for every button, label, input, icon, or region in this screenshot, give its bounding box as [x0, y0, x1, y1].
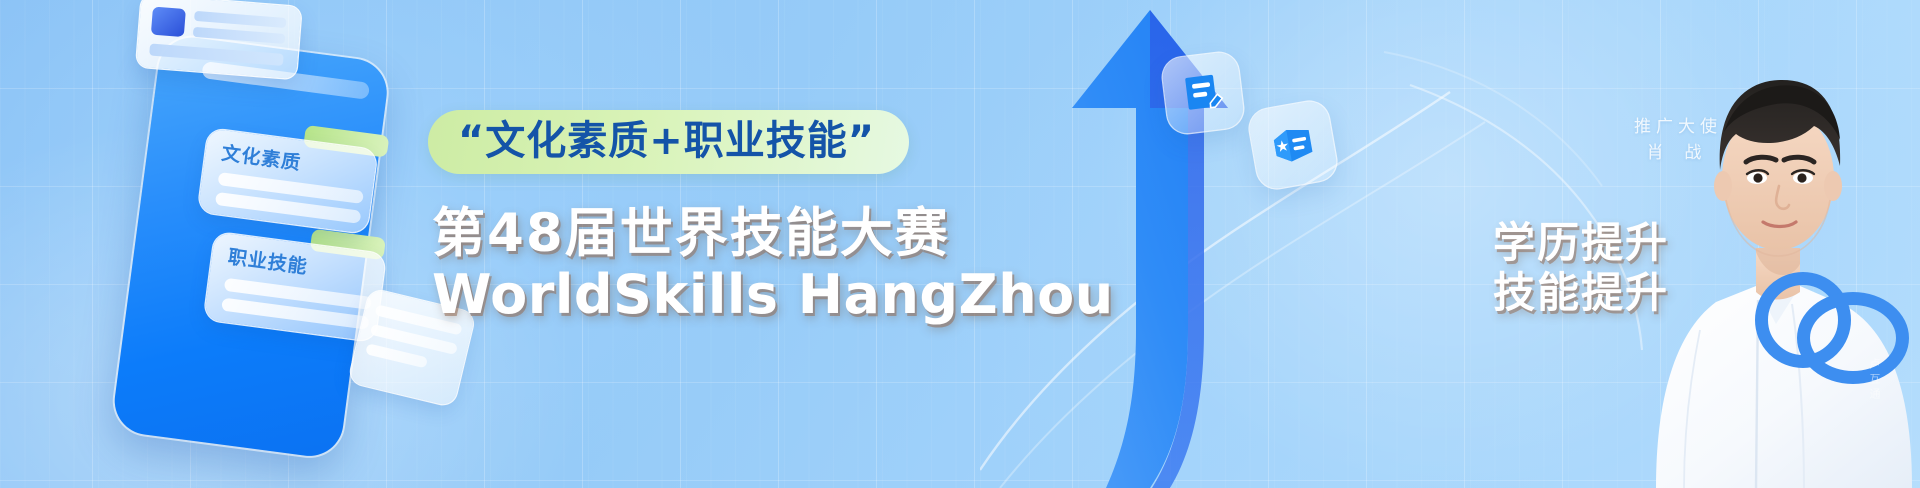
float-card-line	[193, 27, 286, 44]
badge-book-icon	[1247, 99, 1340, 192]
circle-ring-icon	[1797, 292, 1909, 384]
bottom-card-line	[365, 343, 428, 368]
float-card-line	[149, 43, 284, 65]
note-edit-icon	[1161, 51, 1246, 136]
up-arrow-icon	[1000, 0, 1300, 488]
promotional-banner: 文化素质 职业技能 “文化素质+职业技能” 第48届世界技能大赛	[0, 0, 1920, 488]
slogan-pill: “文化素质+职业技能”	[428, 110, 909, 174]
phone-card-illustration: 文化素质 职业技能	[67, 0, 426, 482]
slogan-text: “文化素质+职业技能”	[458, 118, 875, 164]
thumbnail-square-icon	[151, 7, 186, 38]
phone-tag-skill: 职业技能	[227, 242, 310, 279]
phone-tag-culture: 文化素质	[220, 138, 303, 175]
float-card-line	[194, 11, 287, 28]
ambassador-portrait	[1560, 0, 1920, 488]
float-header-card	[136, 0, 301, 79]
watermark: 卢互通	[1866, 358, 1882, 403]
